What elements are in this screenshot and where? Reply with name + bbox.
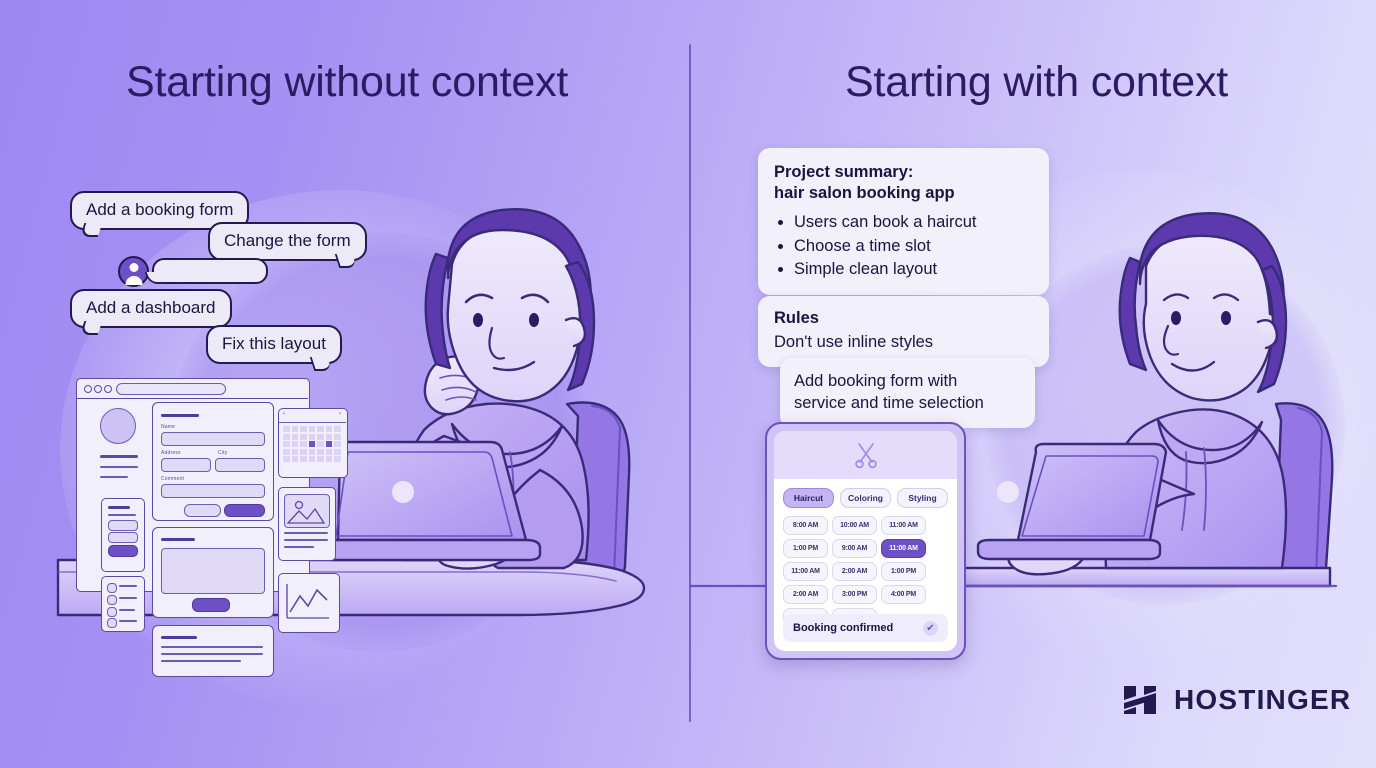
wireframe-line: [161, 653, 263, 655]
hostinger-h-logo: [1120, 680, 1160, 720]
form-label-name: Name: [161, 424, 175, 430]
page-title-right: Starting with context: [845, 58, 1228, 107]
wireframe-line: [100, 466, 138, 468]
chat-bubble-add-a-dashboard[interactable]: Add a dashboard: [70, 289, 232, 328]
time-slot[interactable]: 9:00 AM: [832, 539, 877, 558]
service-chip-coloring[interactable]: Coloring: [840, 488, 891, 508]
calendar-grid[interactable]: [283, 426, 341, 462]
wireframe-line: [284, 532, 328, 534]
wireframe-field: [108, 520, 138, 531]
time-slot[interactable]: 4:00 PM: [881, 585, 926, 604]
line-chart-icon: [284, 580, 332, 624]
chevron-left-icon[interactable]: ‹: [283, 411, 285, 417]
booking-app-header: [774, 431, 957, 479]
list-item: Simple clean layout: [794, 258, 1033, 281]
task-line-1: Add booking form with: [794, 370, 1021, 392]
form-cancel-button[interactable]: [184, 504, 221, 517]
chat-bubble-empty[interactable]: [152, 258, 268, 284]
booking-confirmed-label: Booking confirmed: [793, 622, 893, 634]
checkbox[interactable]: [107, 595, 117, 605]
browser-dot-1: [84, 385, 92, 393]
browser-dot-3: [104, 385, 112, 393]
wireframe-line: [119, 609, 135, 611]
time-slot[interactable]: 3:00 PM: [832, 585, 877, 604]
wireframe-line: [108, 506, 130, 509]
time-slot-grid: 8:00 AM 10:00 AM 11:00 AM 1:00 PM 9:00 A…: [783, 516, 948, 627]
wireframe-line: [119, 597, 137, 599]
wireframe-line: [161, 646, 263, 648]
service-chip-row: Haircut Coloring Styling: [783, 488, 948, 508]
scissors-icon: [851, 440, 881, 470]
time-slot[interactable]: 11:00 AM: [783, 562, 828, 581]
time-slot[interactable]: 2:00 AM: [832, 562, 877, 581]
service-chip-haircut[interactable]: Haircut: [783, 488, 834, 508]
wireframe-field: [108, 532, 138, 543]
wireframe-image-area: [161, 548, 265, 594]
infographic-canvas: Name Address City Comment: [0, 0, 1376, 768]
task-line-2: service and time selection: [794, 392, 1021, 414]
checkbox[interactable]: [107, 607, 117, 617]
brand-logo: HOSTINGER: [1120, 680, 1351, 720]
wireframe-line: [119, 585, 137, 587]
page-title-left: Starting without context: [126, 58, 568, 107]
browser-address-bar: [116, 383, 226, 395]
brand-name: HOSTINGER: [1174, 684, 1351, 716]
form-submit-button[interactable]: [224, 504, 265, 517]
project-summary-heading: Project summary: hair salon booking app: [774, 162, 1033, 204]
form-input-city: [215, 458, 265, 472]
checkbox[interactable]: [107, 583, 117, 593]
vertical-divider: [689, 44, 691, 722]
wireframe-cta-button[interactable]: [108, 545, 138, 557]
chat-bubble-change-the-form[interactable]: Change the form: [208, 222, 367, 261]
form-input-comment: [161, 484, 265, 498]
booking-app-device: Haircut Coloring Styling 8:00 AM 10:00 A…: [765, 422, 966, 660]
chat-bubble-fix-this-layout[interactable]: Fix this layout: [206, 325, 342, 364]
wireframe-line: [100, 455, 138, 458]
image-icon: [284, 494, 328, 526]
wireframe-line: [284, 539, 328, 541]
checkbox[interactable]: [107, 618, 117, 628]
wireframe-text-card: [152, 625, 274, 677]
wireframe-avatar: [100, 408, 136, 444]
wireframe-action-button[interactable]: [192, 598, 230, 612]
form-label-address: Address: [161, 450, 181, 456]
wireframe-line: [119, 620, 137, 622]
time-slot[interactable]: 1:00 PM: [881, 562, 926, 581]
project-summary-card: Project summary: hair salon booking app …: [758, 148, 1049, 295]
wireframe-line: [161, 660, 241, 662]
form-label-comment: Comment: [161, 476, 184, 482]
browser-dot-2: [94, 385, 102, 393]
task-card: Add booking form with service and time s…: [780, 358, 1035, 428]
project-summary-bullets: Users can book a haircut Choose a time s…: [774, 211, 1033, 281]
rules-heading: Rules: [774, 308, 1033, 329]
time-slot[interactable]: 11:00 AM: [881, 516, 926, 535]
rules-body: Don't use inline styles: [774, 331, 1033, 353]
form-input-address: [161, 458, 211, 472]
list-item: Choose a time slot: [794, 235, 1033, 258]
service-chip-styling[interactable]: Styling: [897, 488, 948, 508]
wireframe-line: [284, 546, 314, 548]
calendar-header: ‹ ›: [278, 408, 346, 423]
wireframe-line: [161, 538, 195, 541]
list-item: Users can book a haircut: [794, 211, 1033, 234]
wireframe-line: [100, 476, 128, 478]
time-slot[interactable]: 2:00 AM: [783, 585, 828, 604]
booking-app-body: Haircut Coloring Styling 8:00 AM 10:00 A…: [774, 479, 957, 627]
rules-card: Rules Don't use inline styles: [758, 296, 1049, 367]
form-title-line: [161, 414, 199, 417]
booking-app-screen: Haircut Coloring Styling 8:00 AM 10:00 A…: [774, 431, 957, 651]
booking-confirmed-bar: Booking confirmed ✔: [783, 614, 948, 642]
chevron-right-icon[interactable]: ›: [339, 411, 341, 417]
wireframe-line: [108, 514, 136, 516]
form-input-name: [161, 432, 265, 446]
time-slot[interactable]: 10:00 AM: [832, 516, 877, 535]
check-circle-icon: ✔: [923, 621, 938, 636]
time-slot-selected[interactable]: 11:00 AM: [881, 539, 926, 558]
time-slot[interactable]: 8:00 AM: [783, 516, 828, 535]
wireframe-line: [161, 636, 197, 639]
time-slot[interactable]: 1:00 PM: [783, 539, 828, 558]
form-label-city: City: [218, 450, 227, 456]
